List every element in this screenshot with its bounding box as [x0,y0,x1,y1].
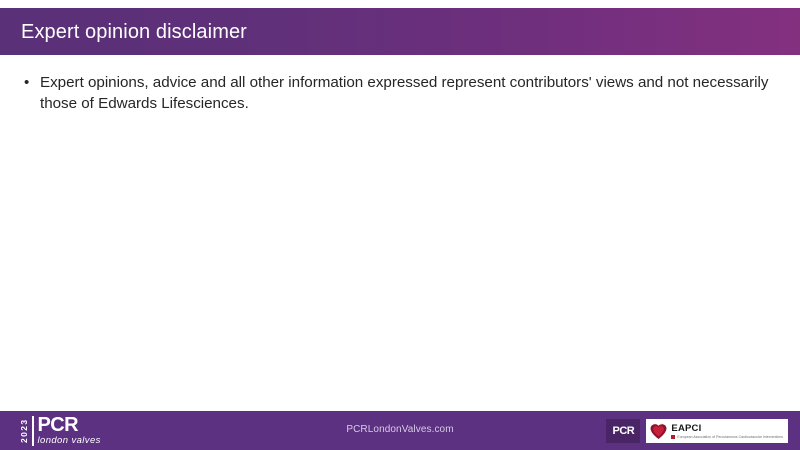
eapci-square-icon [671,435,675,439]
logo-subtitle-text: london valves [38,435,101,446]
page-title: Expert opinion disclaimer [21,22,247,42]
slide-canvas: Expert opinion disclaimer • Expert opini… [0,0,800,450]
eapci-wordmark: EAPCI European Association of Percutaneo… [671,423,783,439]
bullet-marker-icon: • [22,72,40,93]
eapci-name-text: EAPCI [671,423,783,434]
slide-title-bar: Expert opinion disclaimer [0,8,800,55]
eapci-tagline-row: European Association of Percutaneous Car… [671,435,783,439]
pcr-partner-logo: PCR [606,419,640,443]
disclaimer-text: Expert opinions, advice and all other in… [40,72,778,114]
footer-partner-logos: PCR EAPCI European Association of Percut… [606,418,788,444]
slide-body: • Expert opinions, advice and all other … [22,72,778,114]
heart-icon [650,423,667,440]
bullet-list-item: • Expert opinions, advice and all other … [22,72,778,114]
eapci-partner-logo: EAPCI European Association of Percutaneo… [646,419,788,443]
eapci-tagline-text: European Association of Percutaneous Car… [677,435,783,439]
pcr-partner-label: PCR [613,425,635,437]
